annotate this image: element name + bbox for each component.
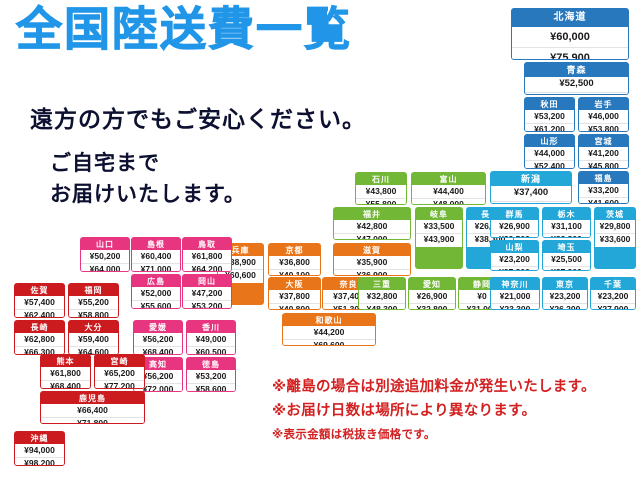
price-value-wakayama-2: ¥69,600 (283, 339, 375, 346)
price-rows-oita: ¥59,400¥64,600 (69, 333, 118, 355)
price-value-ibaraki-1: ¥29,800 (595, 220, 635, 233)
price-box-hiroshima: 広島¥52,000¥55,600 (131, 274, 181, 309)
price-value-hokkaido-2: ¥75,900 (512, 47, 628, 60)
prefecture-name-fukushima: 福島 (579, 172, 628, 184)
price-value-aomori-1: ¥52,500 (525, 77, 628, 92)
price-box-kanagawa: 神奈川¥21,000¥23,300 (490, 277, 540, 310)
prefecture-name-miyazaki: 宮崎 (95, 355, 144, 367)
price-rows-ehime: ¥56,200¥68,400 (134, 333, 182, 355)
price-rows-kanagawa: ¥21,000¥23,300 (491, 290, 539, 310)
price-box-saitama: 埼玉¥25,500¥27,900 (542, 240, 591, 271)
price-value-kanagawa-1: ¥21,000 (491, 290, 539, 303)
price-box-yamagata: 山形¥44,000¥52,400 (524, 134, 575, 169)
price-value-wakayama-1: ¥44,200 (283, 326, 375, 339)
price-rows-ishikawa: ¥43,800¥55,800 (356, 185, 406, 205)
price-rows-kyoto: ¥36,800¥40,100 (269, 256, 320, 276)
price-rows-saga: ¥57,400¥62,400 (15, 296, 64, 318)
price-box-saga: 佐賀¥57,400¥62,400 (14, 283, 65, 318)
price-rows-shiga: ¥35,900¥36,900 (334, 256, 410, 276)
price-rows-tokushima: ¥53,200¥58,600 (187, 370, 235, 392)
price-value-kagoshima-2: ¥71,800 (41, 417, 144, 424)
price-rows-mie: ¥32,800¥48,300 (359, 290, 405, 310)
price-rows-tokyo: ¥23,200¥26,200 (543, 290, 587, 310)
price-value-toyama-1: ¥44,400 (412, 185, 485, 198)
price-value-okayama-2: ¥53,200 (183, 300, 231, 309)
price-value-aomori-2: ¥57,300 (525, 92, 628, 95)
price-value-gifu-2: ¥43,900 (416, 233, 462, 247)
price-value-toyama-2: ¥48,000 (412, 198, 485, 205)
price-value-miyazaki-2: ¥77,200 (95, 380, 144, 389)
price-value-fukushima-2: ¥41,600 (579, 197, 628, 204)
price-value-yamaguchi-1: ¥50,200 (81, 250, 129, 263)
price-value-fukui-2: ¥47,000 (334, 233, 410, 240)
price-box-shiga: 滋賀¥35,900¥36,900 (333, 243, 411, 276)
price-value-ibaraki-2: ¥33,600 (595, 233, 635, 247)
prefecture-name-okinawa: 沖縄 (15, 432, 64, 444)
price-rows-yamanashi: ¥23,200¥27,800 (491, 253, 538, 271)
prefecture-name-mie: 三重 (359, 278, 405, 290)
price-value-shiga-1: ¥35,900 (334, 256, 410, 269)
prefecture-name-shiga: 滋賀 (334, 244, 410, 256)
price-rows-saitama: ¥25,500¥27,900 (543, 253, 590, 271)
price-value-kagoshima-1: ¥66,400 (41, 404, 144, 417)
price-value-fukuoka-1: ¥55,200 (69, 296, 118, 309)
price-rows-akita: ¥53,200¥61,200 (525, 110, 574, 132)
price-rows-hiroshima: ¥52,000¥55,600 (132, 287, 180, 309)
prefecture-name-yamagata: 山形 (525, 135, 574, 147)
price-value-ishikawa-1: ¥43,800 (356, 185, 406, 198)
price-value-oita-1: ¥59,400 (69, 333, 118, 346)
price-rows-iwate: ¥46,000¥53,800 (579, 110, 628, 132)
price-value-miyazaki-1: ¥65,200 (95, 367, 144, 380)
price-rows-chiba: ¥23,200¥27,900 (591, 290, 635, 310)
price-box-kyoto: 京都¥36,800¥40,100 (268, 243, 321, 276)
price-value-yamanashi-2: ¥27,800 (491, 266, 538, 271)
price-rows-shimane: ¥60,400¥71,000 (132, 250, 180, 272)
price-rows-gunma: ¥26,900¥29,500 (491, 220, 538, 238)
price-rows-fukui: ¥42,800¥47,000 (334, 220, 410, 240)
price-value-ehime-1: ¥56,200 (134, 333, 182, 346)
price-value-osaka-2: ¥40,800 (269, 303, 320, 310)
price-value-niigata-1: ¥37,400 (491, 186, 571, 201)
price-rows-ibaraki: ¥29,800¥33,600 (595, 220, 635, 247)
price-rows-okayama: ¥47,200¥53,200 (183, 287, 231, 309)
shipping-fee-infographic: 全国陸送費一覧 遠方の方でもご安心ください。 ご自宅まで お届けいたします。 北… (0, 0, 640, 480)
price-rows-tochigi: ¥31,100¥32,800 (543, 220, 590, 238)
note-islands: ※離島の場合は別途追加料金が発生いたします。 (272, 375, 596, 396)
price-rows-fukushima: ¥33,200¥41,600 (579, 184, 628, 204)
prefecture-name-tokyo: 東京 (543, 278, 587, 290)
price-value-miyagi-1: ¥41,200 (579, 147, 628, 160)
prefecture-name-yamanashi: 山梨 (491, 241, 538, 253)
price-value-okayama-1: ¥47,200 (183, 287, 231, 300)
price-box-fukuoka: 福岡¥55,200¥58,800 (68, 283, 119, 318)
price-rows-tottori: ¥61,800¥64,200 (183, 250, 231, 272)
price-value-gunma-2: ¥29,500 (491, 233, 538, 238)
price-rows-wakayama: ¥44,200¥69,600 (283, 326, 375, 346)
price-value-osaka-1: ¥37,800 (269, 290, 320, 303)
note-tax-excluded: ※表示金額は税抜き価格です。 (272, 426, 436, 442)
price-box-tottori: 鳥取¥61,800¥64,200 (182, 237, 232, 272)
price-box-tochigi: 栃木¥31,100¥32,800 (542, 207, 591, 238)
price-value-shimane-2: ¥71,000 (132, 263, 180, 272)
price-value-shiga-2: ¥36,900 (334, 269, 410, 276)
price-value-yamaguchi-2: ¥64,000 (81, 263, 129, 272)
price-value-tokyo-1: ¥23,200 (543, 290, 587, 303)
price-value-fukuoka-2: ¥58,800 (69, 309, 118, 318)
price-box-iwate: 岩手¥46,000¥53,800 (578, 97, 629, 132)
prefecture-name-okayama: 岡山 (183, 275, 231, 287)
price-rows-toyama: ¥44,400¥48,000 (412, 185, 485, 205)
price-value-gunma-1: ¥26,900 (491, 220, 538, 233)
price-value-iwate-1: ¥46,000 (579, 110, 628, 123)
price-rows-kagawa: ¥49,000¥60,500 (187, 333, 235, 355)
price-rows-kumamoto: ¥61,800¥68,400 (41, 367, 90, 389)
price-rows-osaka: ¥37,800¥40,800 (269, 290, 320, 310)
price-value-akita-2: ¥61,200 (525, 123, 574, 132)
price-value-hiroshima-1: ¥52,000 (132, 287, 180, 300)
prefecture-name-iwate: 岩手 (579, 98, 628, 110)
price-value-mie-2: ¥48,300 (359, 303, 405, 310)
prefecture-name-kumamoto: 熊本 (41, 355, 90, 367)
note-delivery-days: ※お届け日数は場所により異なります。 (272, 399, 536, 420)
page-title: 全国陸送費一覧 (16, 6, 352, 52)
price-value-yamanashi-1: ¥23,200 (491, 253, 538, 266)
price-box-shimane: 島根¥60,400¥71,000 (131, 237, 181, 272)
price-value-hokkaido-1: ¥60,000 (512, 27, 628, 48)
prefecture-name-yamaguchi: 山口 (81, 238, 129, 250)
price-value-tokushima-2: ¥58,600 (187, 383, 235, 392)
price-value-iwate-2: ¥53,800 (579, 123, 628, 132)
price-value-okinawa-1: ¥94,000 (15, 444, 64, 457)
price-value-saga-1: ¥57,400 (15, 296, 64, 309)
prefecture-name-oita: 大分 (69, 321, 118, 333)
prefecture-name-nagasaki: 長崎 (15, 321, 64, 333)
price-box-gunma: 群馬¥26,900¥29,500 (490, 207, 539, 238)
price-box-tokyo: 東京¥23,200¥26,200 (542, 277, 588, 310)
price-value-saga-2: ¥62,400 (15, 309, 64, 318)
price-value-fukushima-1: ¥33,200 (579, 184, 628, 197)
price-box-akita: 秋田¥53,200¥61,200 (524, 97, 575, 132)
prefecture-name-saitama: 埼玉 (543, 241, 590, 253)
price-box-yamaguchi: 山口¥50,200¥64,000 (80, 237, 130, 272)
price-value-yamagata-1: ¥44,000 (525, 147, 574, 160)
prefecture-name-aomori: 青森 (525, 63, 628, 77)
prefecture-name-saga: 佐賀 (15, 284, 64, 296)
prefecture-name-aichi: 愛知 (409, 278, 455, 290)
prefecture-name-akita: 秋田 (525, 98, 574, 110)
price-box-nagasaki: 長崎¥62,800¥66,300 (14, 320, 65, 355)
price-rows-kagoshima: ¥66,400¥71,800 (41, 404, 144, 424)
subtitle-secondary: ご自宅まで お届けいたします。 (50, 148, 246, 210)
price-value-ishikawa-2: ¥55,800 (356, 198, 406, 205)
price-value-tottori-1: ¥61,800 (183, 250, 231, 263)
price-box-okinawa: 沖縄¥94,000¥98,200 (14, 431, 65, 466)
price-rows-yamagata: ¥44,000¥52,400 (525, 147, 574, 169)
prefecture-name-kyoto: 京都 (269, 244, 320, 256)
price-value-tottori-2: ¥64,200 (183, 263, 231, 272)
price-box-hokkaido: 北海道¥60,000¥75,900 (511, 8, 629, 60)
price-value-chiba-1: ¥23,200 (591, 290, 635, 303)
price-rows-gifu: ¥33,500¥43,900 (416, 220, 462, 247)
price-value-miyagi-2: ¥45,800 (579, 160, 628, 169)
price-rows-aomori: ¥52,500¥57,300 (525, 77, 628, 95)
prefecture-name-hokkaido: 北海道 (512, 9, 628, 27)
prefecture-name-gifu: 岐阜 (416, 208, 462, 220)
price-box-wakayama: 和歌山¥44,200¥69,600 (282, 313, 376, 346)
price-box-okayama: 岡山¥47,200¥53,200 (182, 274, 232, 309)
price-box-tokushima: 徳島¥53,200¥58,600 (186, 357, 236, 392)
price-value-kyoto-1: ¥36,800 (269, 256, 320, 269)
price-box-kagawa: 香川¥49,000¥60,500 (186, 320, 236, 355)
price-box-gifu: 岐阜¥33,500¥43,900 (415, 207, 463, 269)
prefecture-name-ehime: 愛媛 (134, 321, 182, 333)
price-value-chiba-2: ¥27,900 (591, 303, 635, 310)
prefecture-name-wakayama: 和歌山 (283, 314, 375, 326)
price-rows-miyazaki: ¥65,200¥77,200 (95, 367, 144, 389)
price-box-yamanashi: 山梨¥23,200¥27,800 (490, 240, 539, 271)
prefecture-name-tochigi: 栃木 (543, 208, 590, 220)
prefecture-name-shimane: 島根 (132, 238, 180, 250)
prefecture-name-tokushima: 徳島 (187, 358, 235, 370)
price-value-hiroshima-2: ¥55,600 (132, 300, 180, 309)
price-value-tochigi-1: ¥31,100 (543, 220, 590, 233)
price-value-shimane-1: ¥60,400 (132, 250, 180, 263)
prefecture-name-kanagawa: 神奈川 (491, 278, 539, 290)
price-box-kagoshima: 鹿児島¥66,400¥71,800 (40, 391, 145, 424)
price-value-kyoto-2: ¥40,100 (269, 269, 320, 276)
subtitle-secondary-line2: お届けいたします。 (50, 179, 246, 210)
price-rows-fukuoka: ¥55,200¥58,800 (69, 296, 118, 318)
subtitle-secondary-line1: ご自宅まで (50, 148, 246, 179)
price-box-ibaraki: 茨城¥29,800¥33,600 (594, 207, 636, 269)
prefecture-name-ishikawa: 石川 (356, 173, 406, 185)
price-box-ishikawa: 石川¥43,800¥55,800 (355, 172, 407, 205)
prefecture-name-gunma: 群馬 (491, 208, 538, 220)
price-value-tokushima-1: ¥53,200 (187, 370, 235, 383)
price-rows-nagasaki: ¥62,800¥66,300 (15, 333, 64, 355)
price-box-chiba: 千葉¥23,200¥27,900 (590, 277, 636, 310)
prefecture-name-toyama: 富山 (412, 173, 485, 185)
price-value-tochigi-2: ¥32,800 (543, 233, 590, 238)
price-value-tokyo-2: ¥26,200 (543, 303, 587, 310)
price-value-kagawa-1: ¥49,000 (187, 333, 235, 346)
price-box-aichi: 愛知¥26,900¥32,800 (408, 277, 456, 310)
price-value-fukui-1: ¥42,800 (334, 220, 410, 233)
prefecture-name-miyagi: 宮城 (579, 135, 628, 147)
prefecture-name-fukuoka: 福岡 (69, 284, 118, 296)
price-box-fukushima: 福島¥33,200¥41,600 (578, 171, 629, 204)
price-value-kagawa-2: ¥60,500 (187, 346, 235, 355)
prefecture-name-chiba: 千葉 (591, 278, 635, 290)
price-value-niigata-2: ¥42,700 (491, 201, 571, 204)
price-box-oita: 大分¥59,400¥64,600 (68, 320, 119, 355)
prefecture-name-kagawa: 香川 (187, 321, 235, 333)
prefecture-name-tottori: 鳥取 (183, 238, 231, 250)
prefecture-name-kagoshima: 鹿児島 (41, 392, 144, 404)
price-value-kumamoto-1: ¥61,800 (41, 367, 90, 380)
price-value-nagasaki-1: ¥62,800 (15, 333, 64, 346)
prefecture-name-osaka: 大阪 (269, 278, 320, 290)
subtitle-primary: 遠方の方でもご安心ください。 (30, 100, 366, 134)
price-value-okinawa-2: ¥98,200 (15, 457, 64, 466)
price-box-niigata: 新潟¥37,400¥42,700 (490, 171, 572, 204)
price-value-akita-1: ¥53,200 (525, 110, 574, 123)
price-rows-yamaguchi: ¥50,200¥64,000 (81, 250, 129, 272)
price-value-aichi-2: ¥32,800 (409, 303, 455, 310)
prefecture-name-fukui: 福井 (334, 208, 410, 220)
price-rows-okinawa: ¥94,000¥98,200 (15, 444, 64, 466)
price-value-saitama-2: ¥27,900 (543, 266, 590, 271)
price-value-kumamoto-2: ¥68,400 (41, 380, 90, 389)
price-box-miyagi: 宮城¥41,200¥45,800 (578, 134, 629, 169)
price-value-yamagata-2: ¥52,400 (525, 160, 574, 169)
price-box-ehime: 愛媛¥56,200¥68,400 (133, 320, 183, 355)
price-value-kanagawa-2: ¥23,300 (491, 303, 539, 310)
prefecture-name-hiroshima: 広島 (132, 275, 180, 287)
price-value-gifu-1: ¥33,500 (416, 220, 462, 233)
price-box-mie: 三重¥32,800¥48,300 (358, 277, 406, 310)
prefecture-name-ibaraki: 茨城 (595, 208, 635, 220)
price-box-fukui: 福井¥42,800¥47,000 (333, 207, 411, 240)
price-rows-miyagi: ¥41,200¥45,800 (579, 147, 628, 169)
price-rows-aichi: ¥26,900¥32,800 (409, 290, 455, 310)
price-box-osaka: 大阪¥37,800¥40,800 (268, 277, 321, 310)
price-box-toyama: 富山¥44,400¥48,000 (411, 172, 486, 205)
prefecture-name-niigata: 新潟 (491, 172, 571, 186)
price-rows-niigata: ¥37,400¥42,700 (491, 186, 571, 204)
price-box-miyazaki: 宮崎¥65,200¥77,200 (94, 354, 145, 389)
price-box-kumamoto: 熊本¥61,800¥68,400 (40, 354, 91, 389)
price-value-saitama-1: ¥25,500 (543, 253, 590, 266)
price-value-aichi-1: ¥26,900 (409, 290, 455, 303)
price-box-aomori: 青森¥52,500¥57,300 (524, 62, 629, 95)
price-value-mie-1: ¥32,800 (359, 290, 405, 303)
price-rows-hokkaido: ¥60,000¥75,900 (512, 27, 628, 61)
